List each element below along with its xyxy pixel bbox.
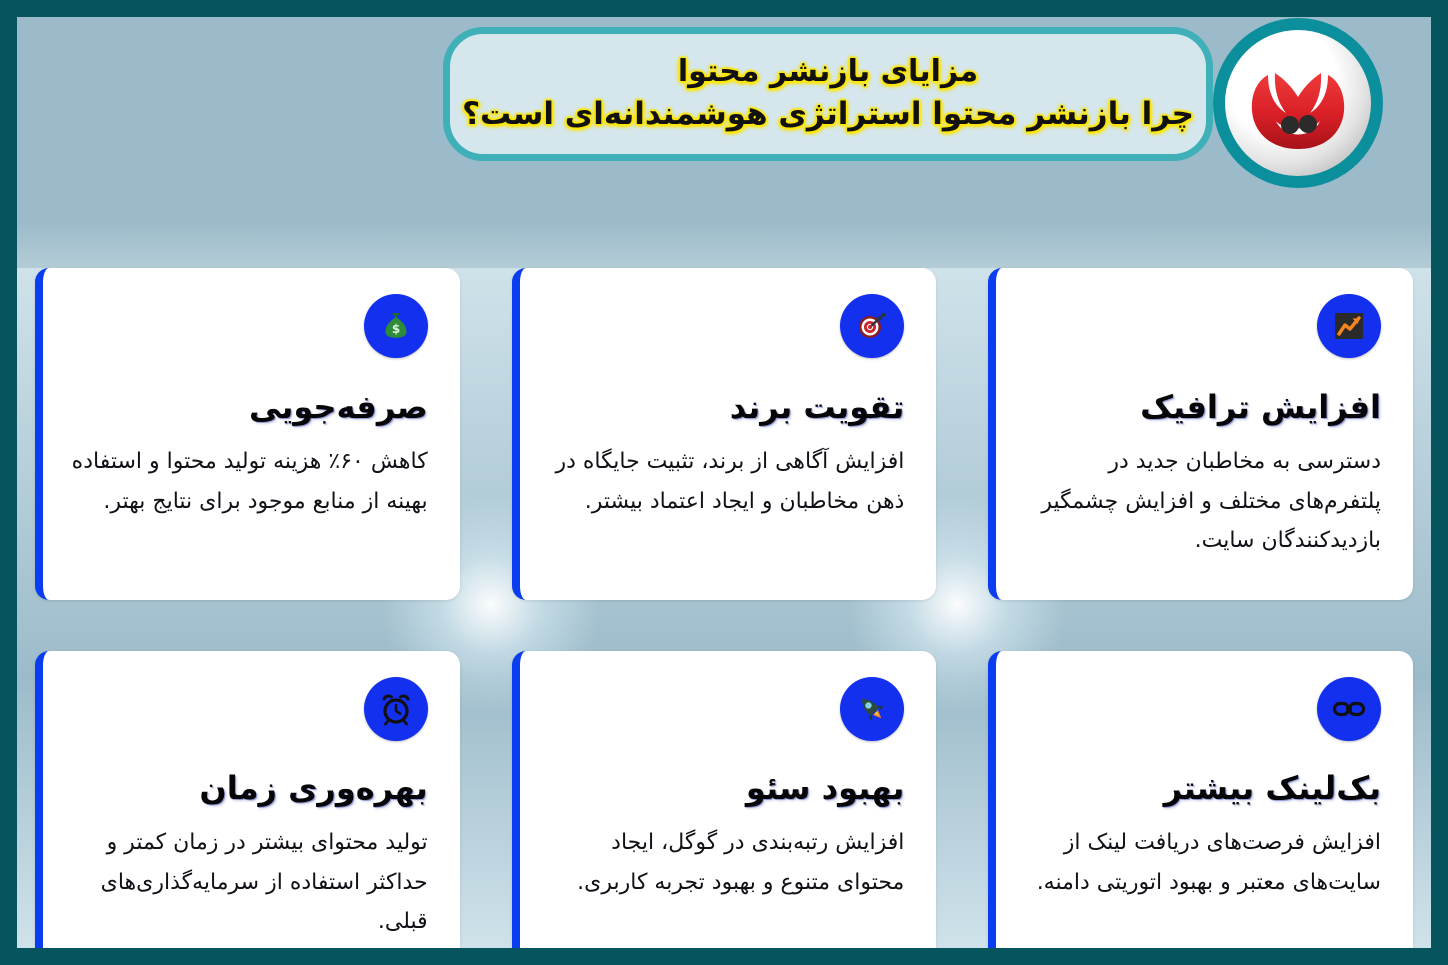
frame-left — [0, 0, 17, 965]
dart-target-icon — [840, 294, 904, 358]
card-title: بهره‌وری زمان — [71, 769, 428, 807]
rocket-icon — [840, 677, 904, 741]
card-body: افزایش فرصت‌های دریافت لینک از سایت‌های … — [1024, 823, 1381, 901]
card-title: صرفه‌جویی — [71, 388, 428, 426]
chart-increasing-icon — [1317, 294, 1381, 358]
benefit-card-brand[interactable]: تقویت برند افزایش آگاهی از برند، تثبیت ج… — [512, 268, 937, 600]
benefit-card-backlinks[interactable]: بک‌لینک بیشتر افزایش فرصت‌های دریافت لین… — [988, 651, 1413, 965]
link-chain-icon — [1317, 677, 1381, 741]
frame-top — [0, 0, 1448, 17]
benefit-card-traffic[interactable]: افزایش ترافیک دسترسی به مخاطبان جدید در … — [988, 268, 1413, 600]
card-title: بهبود سئو — [548, 769, 905, 807]
frame-bottom — [0, 948, 1448, 965]
tulip-icon — [1246, 53, 1350, 153]
frame-right — [1431, 0, 1448, 965]
logo-disc — [1225, 30, 1371, 176]
benefit-card-savings[interactable]: $ صرفه‌جویی کاهش ۶۰٪ هزینه تولید محتوا و… — [35, 268, 460, 600]
benefits-grid: افزایش ترافیک دسترسی به مخاطبان جدید در … — [17, 268, 1431, 965]
benefit-card-time[interactable]: بهره‌وری زمان تولید محتوای بیشتر در زمان… — [35, 651, 460, 965]
infographic-canvas: مزایای بازنشر محتوا چرا بازنشر محتوا است… — [0, 0, 1448, 965]
card-body: کاهش ۶۰٪ هزینه تولید محتوا و استفاده بهی… — [71, 442, 428, 520]
card-body: افزایش آگاهی از برند، تثبیت جایگاه در ذه… — [548, 442, 905, 520]
header-title-pill: مزایای بازنشر محتوا چرا بازنشر محتوا است… — [443, 27, 1213, 161]
card-body: تولید محتوای بیشتر در زمان کمتر و حداکثر… — [71, 823, 428, 940]
alarm-clock-icon — [364, 677, 428, 741]
benefit-card-seo[interactable]: بهبود سئو افزایش رتبه‌بندی در گوگل، ایجا… — [512, 651, 937, 965]
header-title-line-1: مزایای بازنشر محتوا — [678, 53, 978, 91]
header-title-line-2: چرا بازنشر محتوا استراتژی هوشمندانه‌ای ا… — [462, 95, 1194, 135]
brand-logo — [1213, 18, 1383, 188]
card-title: بک‌لینک بیشتر — [1024, 769, 1381, 807]
card-body: دسترسی به مخاطبان جدید در پلتفرم‌های مخت… — [1024, 442, 1381, 559]
money-bag-icon: $ — [364, 294, 428, 358]
card-title: تقویت برند — [548, 388, 905, 426]
card-title: افزایش ترافیک — [1024, 388, 1381, 426]
card-body: افزایش رتبه‌بندی در گوگل، ایجاد محتوای م… — [548, 823, 905, 901]
svg-text:$: $ — [391, 322, 399, 336]
